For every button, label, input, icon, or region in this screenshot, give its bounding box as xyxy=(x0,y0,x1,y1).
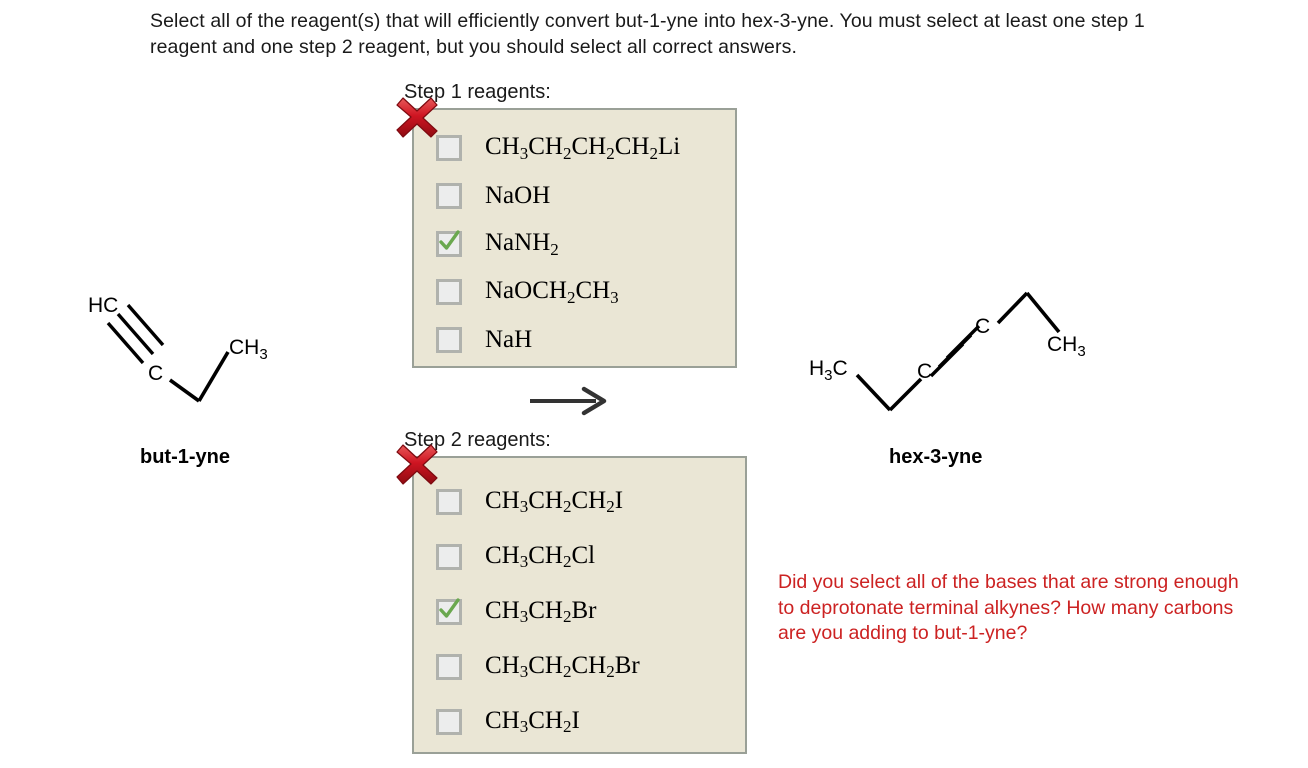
step1-options-box: CH3CH2CH2CH2Li NaOH NaNH2 xyxy=(412,108,737,368)
step1-option-label-4: NaH xyxy=(485,327,532,353)
step2-checkbox-2[interactable] xyxy=(436,599,462,625)
step2-option-label-4: CH3CH2I xyxy=(485,708,580,736)
step1-reagent-group: Step 1 reagents: CH3CH2CH2CH2Li NaOH xyxy=(402,80,737,368)
step1-checkbox-3[interactable] xyxy=(436,279,462,305)
step1-option-row[interactable]: NaOCH2CH3 xyxy=(414,268,735,316)
step2-option-row[interactable]: CH3CH2I xyxy=(414,694,745,749)
step2-option-row[interactable]: CH3CH2Cl xyxy=(414,529,745,584)
step1-option-row[interactable]: NaH xyxy=(414,316,735,364)
step2-checkbox-3[interactable] xyxy=(436,654,462,680)
step1-option-label-0: CH3CH2CH2CH2Li xyxy=(485,134,680,162)
atom-label-c-lower: C xyxy=(917,360,932,383)
step2-option-label-0: CH3CH2CH2I xyxy=(485,488,623,516)
atom-label-c-upper: C xyxy=(975,315,990,338)
atom-label-hc: HC xyxy=(88,294,118,317)
step2-option-label-1: CH3CH2Cl xyxy=(485,543,595,571)
atom-label-ch3: CH3 xyxy=(229,336,268,363)
step1-option-row[interactable]: CH3CH2CH2CH2Li xyxy=(414,124,735,172)
product-name: hex-3-yne xyxy=(889,446,982,469)
step2-options-box: CH3CH2CH2I CH3CH2Cl CH3CH2Br xyxy=(412,456,747,754)
atom-label-c: C xyxy=(148,362,163,385)
step2-option-label-3: CH3CH2CH2Br xyxy=(485,653,640,681)
step2-checkbox-0[interactable] xyxy=(436,489,462,515)
atom-label-h3c: H3C xyxy=(809,357,848,384)
step1-option-label-2: NaNH2 xyxy=(485,230,559,258)
step2-option-row[interactable]: CH3CH2CH2Br xyxy=(414,639,745,694)
step1-option-row[interactable]: NaOH xyxy=(414,172,735,220)
step2-option-label-2: CH3CH2Br xyxy=(485,598,596,626)
reactant-name: but-1-yne xyxy=(140,446,230,469)
step1-option-label-1: NaOH xyxy=(485,183,550,209)
step1-checkbox-2[interactable] xyxy=(436,231,462,257)
reaction-arrow-icon xyxy=(528,386,618,416)
checkmark-icon xyxy=(436,228,462,254)
step1-heading: Step 1 reagents: xyxy=(404,80,737,104)
checkmark-icon xyxy=(436,596,462,622)
atom-label-ch3: CH3 xyxy=(1047,333,1086,360)
step1-checkbox-0[interactable] xyxy=(436,135,462,161)
step1-checkbox-4[interactable] xyxy=(436,327,462,353)
reactant-structure-but-1-yne: HC C CH3 xyxy=(62,282,342,412)
step2-checkbox-1[interactable] xyxy=(436,544,462,570)
step1-checkbox-1[interactable] xyxy=(436,183,462,209)
step2-checkbox-4[interactable] xyxy=(436,709,462,735)
step1-option-row[interactable]: NaNH2 xyxy=(414,220,735,268)
feedback-message: Did you select all of the bases that are… xyxy=(778,570,1248,647)
step2-option-row[interactable]: CH3CH2Br xyxy=(414,584,745,639)
product-structure-hex-3-yne: H3C C C CH3 xyxy=(795,275,1095,415)
step2-heading: Step 2 reagents: xyxy=(404,428,747,452)
question-prompt: Select all of the reagent(s) that will e… xyxy=(150,8,1180,60)
step1-option-label-3: NaOCH2CH3 xyxy=(485,278,619,306)
step2-reagent-group: Step 2 reagents: CH3CH2CH2I CH3CH2Cl xyxy=(402,428,747,754)
step2-option-row[interactable]: CH3CH2CH2I xyxy=(414,474,745,529)
